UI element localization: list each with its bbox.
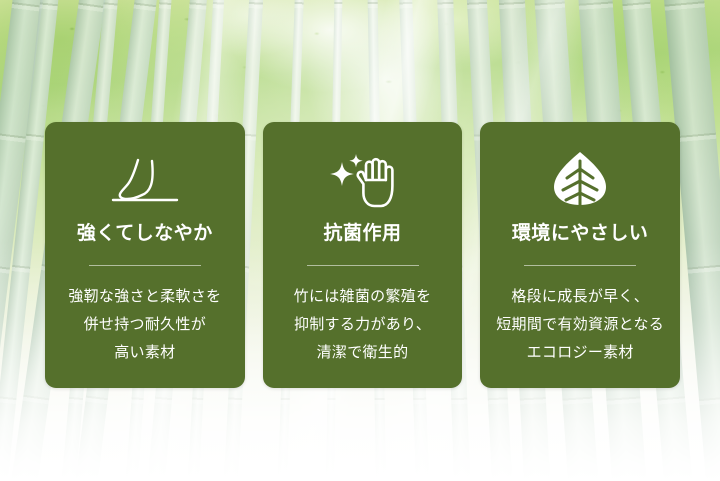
body-line: 短期間で有効資源となる [496,311,664,339]
card-divider [524,265,636,266]
body-line: 併せ持つ耐久性が [68,311,221,339]
body-line: 強靭な強さと柔軟さを [68,283,221,311]
feature-card-body: 強靭な強さと柔軟さを 併せ持つ耐久性が 高い素材 [68,283,221,367]
feature-card-title: 抗菌作用 [324,224,402,243]
sparkle-hand-icon [325,142,401,220]
leaf-icon [550,142,610,220]
feature-card-title: 環境にやさしい [512,224,649,243]
feature-card-body: 格段に成長が早く、 短期間で有効資源となる エコロジー素材 [496,283,664,367]
feature-card-antibacterial[interactable]: 抗菌作用 竹には雑菌の繁殖を 抑制する力があり、 清潔で衛生的 [263,122,463,388]
foot-icon [108,142,182,220]
feature-card-eco[interactable]: 環境にやさしい 格段に成長が早く、 短期間で有効資源となる エコロジー素材 [480,122,680,388]
feature-card-body: 竹には雑菌の繁殖を 抑制する力があり、 清潔で衛生的 [294,283,432,367]
body-line: 高い素材 [68,339,221,367]
card-divider [307,265,419,266]
body-line: 抑制する力があり、 [294,311,432,339]
feature-card-durability[interactable]: 強くてしなやか 強靭な強さと柔軟さを 併せ持つ耐久性が 高い素材 [45,122,245,388]
feature-section: 強くてしなやか 強靭な強さと柔軟さを 併せ持つ耐久性が 高い素材 [0,0,720,481]
feature-card-list: 強くてしなやか 強靭な強さと柔軟さを 併せ持つ耐久性が 高い素材 [45,122,680,388]
feature-card-title: 強くてしなやか [77,224,213,243]
body-line: 竹には雑菌の繁殖を [294,283,432,311]
body-line: 清潔で衛生的 [294,339,432,367]
body-line: 格段に成長が早く、 [496,283,664,311]
card-divider [89,265,201,266]
body-line: エコロジー素材 [496,339,664,367]
